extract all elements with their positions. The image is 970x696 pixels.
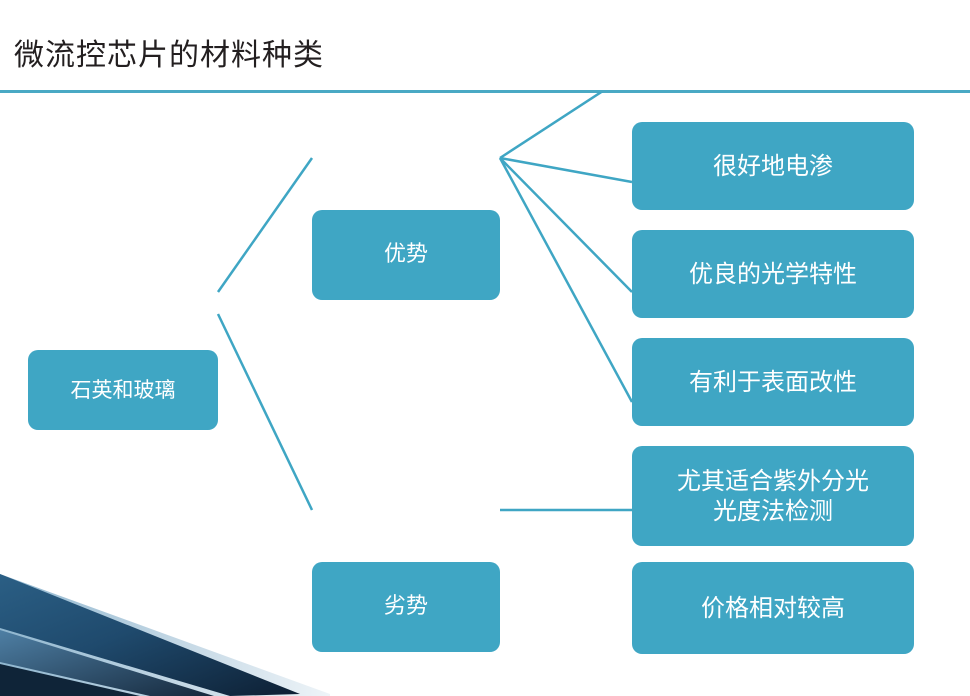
title-bar: 微流控芯片的材料种类	[0, 0, 970, 92]
node-disadvantage[interactable]: 劣势	[312, 562, 500, 652]
node-leaf-price[interactable]: 价格相对较高	[632, 562, 914, 654]
diagram: 石英和玻璃 优势 劣势 很好地电渗 优良的光学特性 有利于表面改性 尤其适合紫外…	[0, 92, 970, 696]
slide: 微流控芯片的材料种类	[0, 0, 970, 696]
node-leaf-uv-spectrophotometry[interactable]: 尤其适合紫外分光 光度法检测	[632, 446, 914, 546]
page-title: 微流控芯片的材料种类	[14, 30, 324, 74]
node-root[interactable]: 石英和玻璃	[28, 350, 218, 430]
node-leaf-optical[interactable]: 优良的光学特性	[632, 230, 914, 318]
node-leaf-uv-line1: 尤其适合紫外分光	[677, 466, 869, 496]
node-leaf-surface-modification[interactable]: 有利于表面改性	[632, 338, 914, 426]
node-leaf-uv-line2: 光度法检测	[713, 496, 833, 526]
node-advantage[interactable]: 优势	[312, 210, 500, 300]
node-leaf-electroosmosis[interactable]: 很好地电渗	[632, 122, 914, 210]
